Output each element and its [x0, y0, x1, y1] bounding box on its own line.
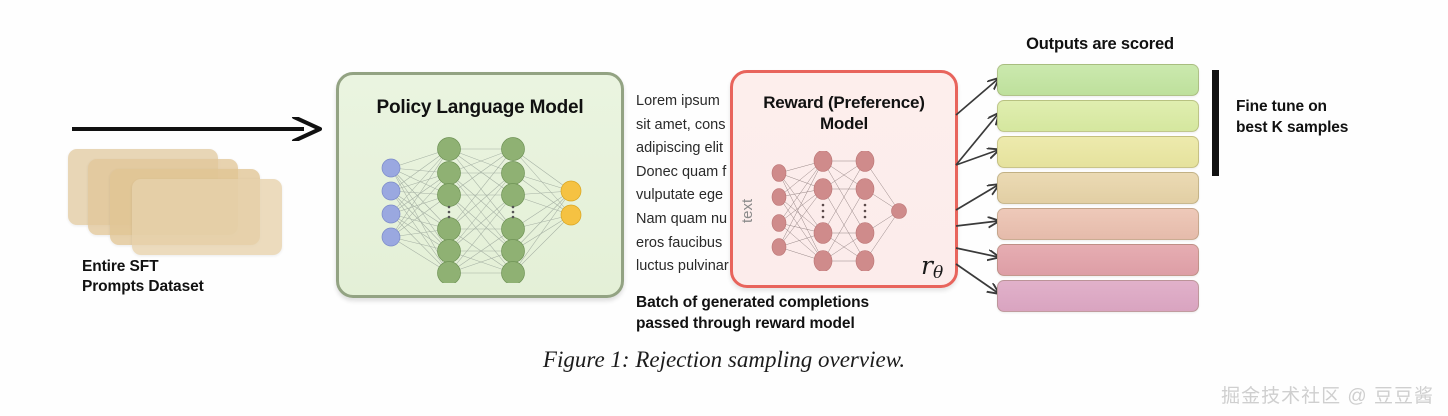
- output-bar[interactable]: [997, 136, 1199, 168]
- output-bar[interactable]: [997, 244, 1199, 276]
- policy-language-model-box: Policy Language Model: [336, 72, 624, 298]
- scored-outputs-group: [997, 64, 1199, 314]
- fine-tune-label: Fine tune on best K samples: [1236, 97, 1348, 139]
- reward-input-text-label: text: [739, 199, 756, 223]
- reward-symbol-r: r: [921, 251, 933, 280]
- dataset-label: Entire SFT Prompts Dataset: [82, 257, 204, 298]
- output-bar[interactable]: [997, 280, 1199, 312]
- dataset-to-policy-arrow: [72, 117, 322, 141]
- reward-model-title-line1: Reward (Preference): [733, 93, 955, 114]
- output-bar[interactable]: [997, 100, 1199, 132]
- policy-model-title: Policy Language Model: [339, 97, 621, 119]
- prompt-card: [132, 179, 282, 255]
- fine-tune-label-line2: best K samples: [1236, 118, 1348, 139]
- reward-preference-model-box: Reward (Preference) Model text: [730, 70, 958, 288]
- figure-caption: Figure 1: Rejection sampling overview.: [0, 347, 1448, 373]
- completions-caption-line1: Batch of generated completions: [636, 292, 869, 313]
- prompt-card-stack: [64, 145, 304, 260]
- reward-symbol-theta: θ: [933, 263, 943, 283]
- completions-caption-line2: passed through reward model: [636, 313, 869, 334]
- figure-canvas: Entire SFT Prompts Dataset Policy Langua…: [0, 0, 1448, 416]
- fine-tune-label-line1: Fine tune on: [1236, 97, 1348, 118]
- reward-output-symbol: rθ: [921, 251, 943, 283]
- reward-model-title-line2: Model: [733, 114, 955, 135]
- reward-neural-network-diagram: [765, 151, 915, 271]
- output-bar[interactable]: [997, 64, 1199, 96]
- policy-neural-network-diagram: [365, 133, 597, 283]
- outputs-title: Outputs are scored: [997, 35, 1203, 54]
- dataset-label-line2: Prompts Dataset: [82, 277, 204, 297]
- dataset-label-line1: Entire SFT: [82, 257, 204, 277]
- reward-model-title: Reward (Preference) Model: [733, 93, 955, 134]
- watermark: 掘金技术社区 @ 豆豆酱: [1221, 381, 1434, 408]
- completions-caption: Batch of generated completions passed th…: [636, 292, 869, 334]
- output-bar[interactable]: [997, 208, 1199, 240]
- output-bar[interactable]: [997, 172, 1199, 204]
- best-k-bracket: [1212, 70, 1219, 176]
- dataset-group: Entire SFT Prompts Dataset: [60, 100, 340, 310]
